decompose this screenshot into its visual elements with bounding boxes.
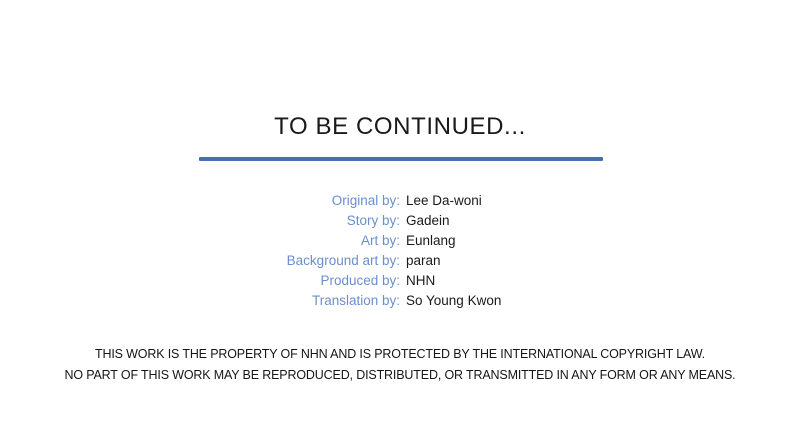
credit-value-story-by: Gadein: [400, 211, 800, 231]
credit-row: Produced by: NHN: [0, 271, 800, 291]
credit-value-translation-by: So Young Kwon: [400, 291, 800, 311]
copyright-line-2: NO PART OF THIS WORK MAY BE REPRODUCED, …: [16, 364, 784, 385]
credit-row: Original by: Lee Da-woni: [0, 191, 800, 211]
credit-label-produced-by: Produced by:: [0, 271, 400, 291]
credit-row: Translation by: So Young Kwon: [0, 291, 800, 311]
to-be-continued-title: TO BE CONTINUED...: [0, 112, 800, 142]
credit-value-art-by: Eunlang: [400, 231, 800, 251]
copyright-notice: THIS WORK IS THE PROPERTY OF NHN AND IS …: [0, 343, 800, 385]
blue-divider-rule: [199, 157, 603, 161]
credits-block: Original by: Lee Da-woni Story by: Gadei…: [0, 191, 800, 311]
credit-row: Story by: Gadein: [0, 211, 800, 231]
end-card-page: TO BE CONTINUED... Original by: Lee Da-w…: [0, 0, 800, 426]
credit-value-background-art-by: paran: [400, 251, 800, 271]
credit-value-produced-by: NHN: [400, 271, 800, 291]
credit-label-story-by: Story by:: [0, 211, 400, 231]
credit-label-original-by: Original by:: [0, 191, 400, 211]
credit-value-original-by: Lee Da-woni: [400, 191, 800, 211]
credit-label-art-by: Art by:: [0, 231, 400, 251]
credit-row: Background art by: paran: [0, 251, 800, 271]
credit-label-background-art-by: Background art by:: [0, 251, 400, 271]
credit-row: Art by: Eunlang: [0, 231, 800, 251]
credit-label-translation-by: Translation by:: [0, 291, 400, 311]
copyright-line-1: THIS WORK IS THE PROPERTY OF NHN AND IS …: [16, 343, 784, 364]
